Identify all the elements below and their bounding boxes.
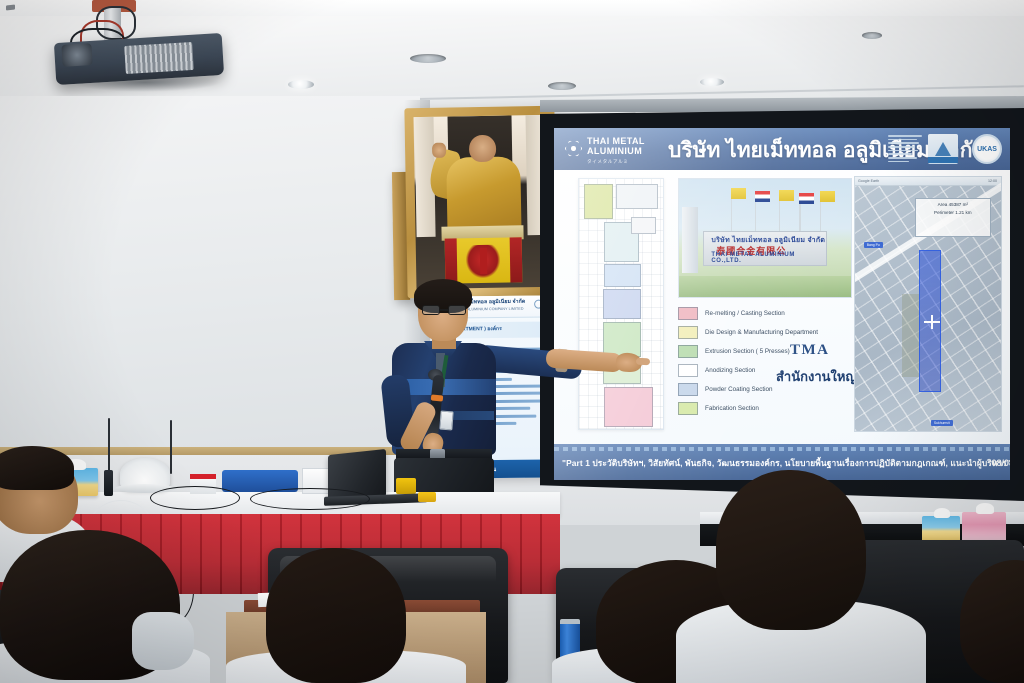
portrait-banner-left-drape — [445, 239, 458, 284]
projector-vent — [124, 42, 194, 74]
can-top — [560, 619, 580, 624]
ukas-seal-badge-icon: UKAS — [972, 134, 1002, 164]
radio-antenna — [170, 420, 172, 474]
map-toolbar: Google Earth 12:00 — [855, 177, 1001, 186]
map-toolbar-left: Google Earth — [858, 179, 879, 183]
map-center-crosshair-icon — [924, 321, 940, 323]
royal-portrait-image — [414, 115, 549, 289]
legend-label: Re-melting / Casting Section — [705, 310, 785, 317]
gate-sign-english: THAI METAL ALUMINIUM CO.,LTD. — [711, 252, 826, 264]
audience-member-hair — [0, 446, 74, 490]
legend-label: Die Design & Manufacturing Department — [705, 329, 818, 336]
legend-label: Powder Coating Section — [705, 386, 773, 393]
legend-swatch — [678, 326, 698, 339]
slide-body: บริษัท ไทยเม็ททอล อลูมิเนียม จำกัด 泰國合金有… — [554, 170, 1010, 444]
legend-swatch — [678, 402, 698, 415]
projected-slide: THAI METAL ALUMINIUM タイメタルアルミ บริษัท ไทย… — [554, 128, 1010, 480]
legend-label: Extrusion Section ( 5 Presses) — [705, 348, 790, 355]
beach-theme-tissue-box-2 — [922, 516, 960, 542]
ceiling-vent — [862, 32, 882, 39]
certification-text-block — [888, 135, 922, 165]
satellite-map-image: Google Earth 12:00 Area 45387 m² Perimet… — [854, 176, 1002, 432]
portrait-hand — [432, 142, 445, 158]
tma-wordmark: TMA — [790, 342, 830, 359]
tuv-certified-badge-icon — [928, 134, 958, 164]
portrait-robe — [446, 157, 521, 234]
logo-line-3-katakana: タイメタルアルミ — [587, 157, 645, 167]
handheld-radio-1 — [104, 470, 113, 496]
projector-shadow — [70, 76, 220, 92]
portrait-head — [469, 135, 496, 163]
yellow-clamp — [418, 492, 436, 502]
thai-metal-atom-logo-icon — [565, 140, 582, 157]
ceiling-vent — [410, 54, 446, 63]
slide-footer-text: "Part 1 ประวัติบริษัทฯ, วิสัยทัศน์, พันธ… — [562, 456, 1010, 470]
logo-line-2: ALUMINIUM — [587, 147, 645, 157]
map-toolbar-right: 12:00 — [988, 179, 997, 183]
microphone-indicator — [431, 394, 444, 401]
projection-screen-area: THAI METAL ALUMINIUM タイメタルアルミ บริษัท ไทย… — [540, 108, 1024, 501]
conference-room-photo: บริษัท ไทยเม็ททอล อลูมิเนียม จำกัด THAI … — [0, 0, 1024, 683]
downlight — [288, 80, 314, 89]
face-mask — [132, 612, 194, 670]
audience-member-head — [716, 470, 866, 630]
yellow-tool — [396, 478, 416, 494]
audience-member-head — [266, 548, 406, 683]
company-logo-text: THAI METAL ALUMINIUM タイメタルアルミ — [587, 137, 645, 167]
map-area-label: Area 45387 m² — [916, 201, 990, 209]
radio-antenna — [108, 418, 110, 474]
map-imagery: Area 45387 m² Perimeter 1.21 km Bang Pu … — [855, 186, 1001, 431]
legend-swatch — [678, 383, 698, 396]
power-cable — [250, 488, 370, 510]
left-wall — [0, 96, 420, 456]
map-place-tag-bottom: Sukhumvit — [931, 420, 953, 426]
presenter-pointing-finger — [636, 358, 650, 366]
laptop-logo — [6, 5, 15, 11]
legend-item: Extrusion Section ( 5 Presses) — [678, 342, 864, 361]
legend-label: Anodizing Section — [705, 367, 755, 374]
factory-entrance-photo: บริษัท ไทยเม็ททอล อลูมิเนียม จำกัด 泰國合金有… — [678, 178, 852, 298]
factory-gate-sign: บริษัท ไทยเม็ททอล อลูมิเนียม จำกัด 泰國合金有… — [703, 231, 827, 266]
smoke-detector-icon — [548, 82, 576, 90]
legend-swatch — [678, 307, 698, 320]
tma-headquarters-label: สำนักงานใหญ่ — [776, 366, 857, 387]
garuda-emblem-icon — [466, 245, 501, 278]
factory-site-plan — [578, 178, 664, 430]
pink-tissue-box — [962, 512, 1006, 542]
downlight — [700, 78, 724, 86]
royal-portrait-frame — [404, 106, 557, 299]
legend-item: Die Design & Manufacturing Department — [678, 323, 864, 342]
ceiling-edge — [0, 0, 1024, 16]
footer-dot-pattern — [554, 447, 1010, 451]
presenter-glasses — [422, 305, 466, 315]
white-safety-helmet — [120, 458, 170, 490]
site-plan-legend: Re-melting / Casting Section Die Design … — [678, 304, 864, 418]
legend-swatch — [678, 364, 698, 377]
legend-item: Fabrication Section — [678, 399, 864, 418]
legend-label: Fabrication Section — [705, 405, 759, 412]
legend-swatch — [678, 345, 698, 358]
power-cable — [150, 486, 240, 510]
map-measurement-callout: Area 45387 m² Perimeter 1.21 km — [915, 198, 991, 237]
map-place-tag-left: Bang Pu — [864, 242, 883, 248]
presenter-id-badge — [439, 411, 453, 431]
map-perimeter-label: Perimeter 1.21 km — [916, 209, 990, 217]
legend-item: Re-melting / Casting Section — [678, 304, 864, 323]
slide-footer-date: 08/08 — [991, 458, 1010, 468]
projector-lens — [61, 43, 92, 67]
portrait-banner-right-drape — [509, 237, 522, 282]
